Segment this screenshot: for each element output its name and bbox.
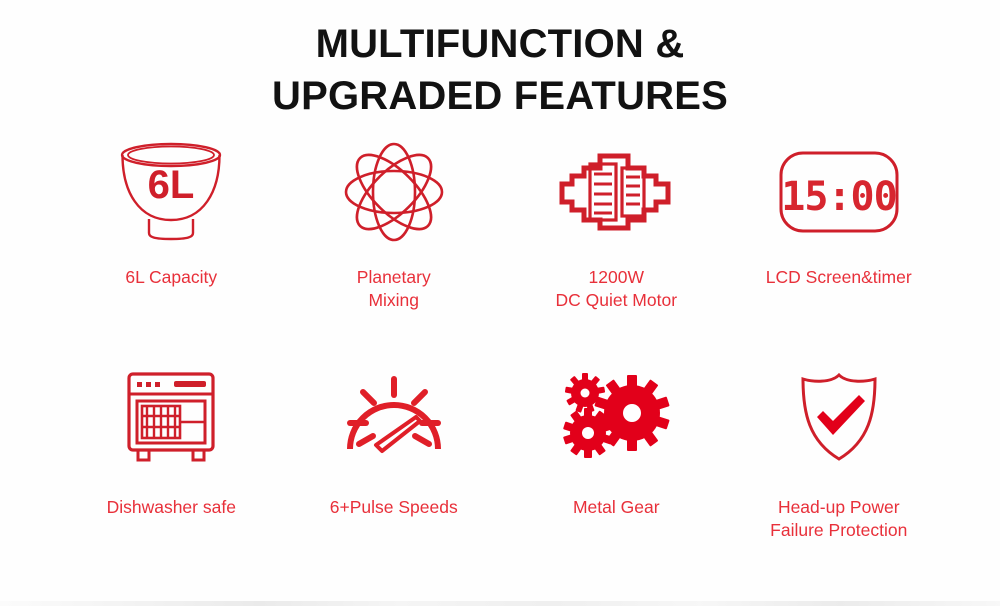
dishwasher-icon [121,362,221,472]
feature-label: Head-up Power Failure Protection [770,496,907,542]
feature-item-lcd-timer: 15:00 LCD Screen&timer [728,132,951,362]
feature-label: 6L Capacity [125,266,217,289]
feature-item-dishwasher-safe: Dishwasher safe [60,362,283,592]
feature-item-motor: 1200W DC Quiet Motor [505,132,728,362]
gears-icon [560,362,672,472]
feature-item-metal-gear: Metal Gear [505,362,728,592]
feature-label: Dishwasher safe [107,496,236,519]
mixing-bowl-icon: 6L [109,132,233,252]
feature-banner: MULTIFUNCTION & UPGRADED FEATURES 6L 6L … [0,0,1000,606]
feature-item-6l-capacity: 6L 6L Capacity [60,132,283,362]
bottom-edge-strip [0,601,1000,606]
feature-item-pulse-speeds: 6+Pulse Speeds [283,362,506,592]
lcd-timer-icon: 15:00 [778,132,900,252]
lcd-time-text: 15:00 [781,174,896,220]
feature-grid: 6L 6L Capacity Planetary Mixing [60,132,950,592]
feature-label: 1200W DC Quiet Motor [555,266,677,312]
title-line-2: UPGRADED FEATURES [0,70,1000,122]
feature-label: Metal Gear [573,496,660,519]
page-title: MULTIFUNCTION & UPGRADED FEATURES [0,18,1000,122]
bowl-capacity-text: 6L [148,163,195,207]
feature-item-planetary-mixing: Planetary Mixing [283,132,506,362]
speedometer-icon [344,362,444,472]
feature-item-power-failure-protection: Head-up Power Failure Protection [728,362,951,592]
feature-label: LCD Screen&timer [766,266,912,289]
feature-label: Planetary Mixing [357,266,431,312]
feature-label: 6+Pulse Speeds [330,496,458,519]
planetary-rosette-icon [342,132,446,252]
shield-check-icon [791,362,887,472]
title-line-1: MULTIFUNCTION & [0,18,1000,70]
motor-icon [554,132,678,252]
